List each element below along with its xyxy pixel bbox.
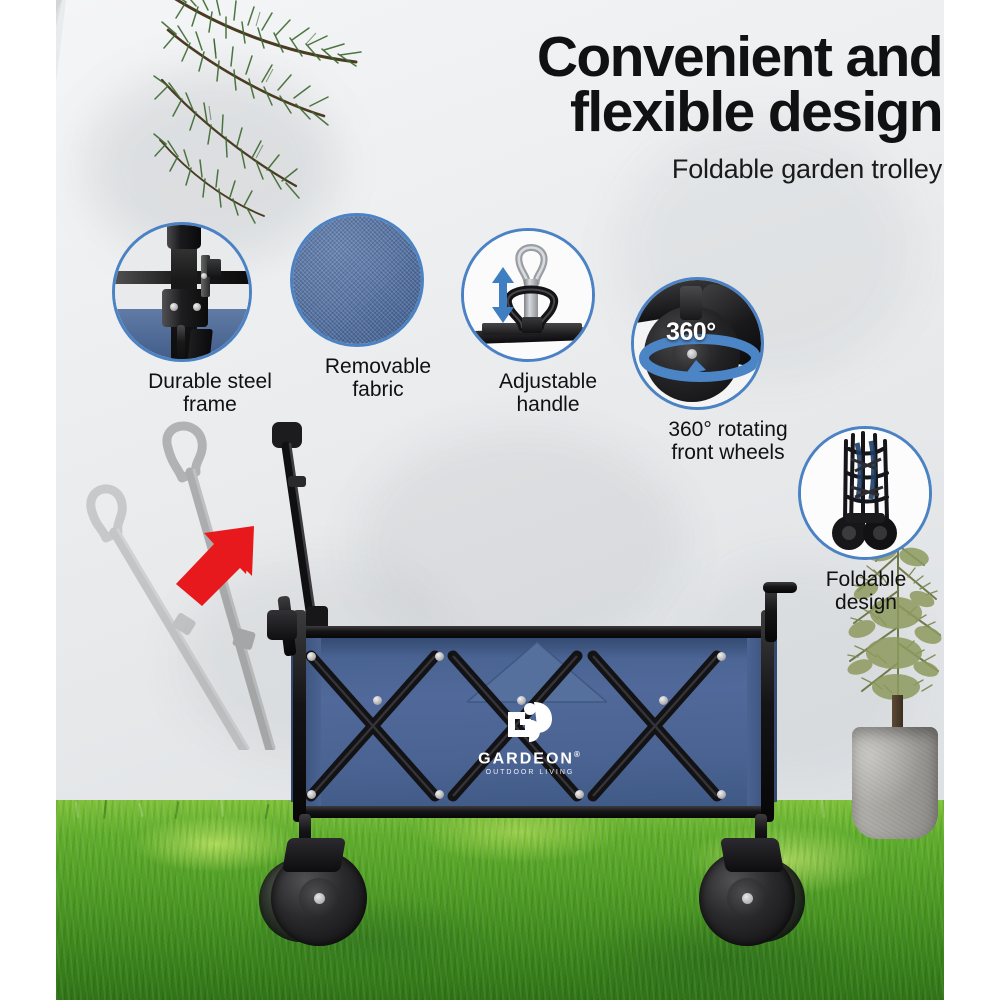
motion-arrow-icon bbox=[176, 526, 254, 606]
foldable-design-label: Foldable design bbox=[786, 569, 946, 614]
headline-subtitle: Foldable garden trolley bbox=[537, 154, 942, 185]
adjustable-handle-icon bbox=[461, 228, 595, 362]
plant-pot bbox=[852, 727, 938, 839]
feature-durable-steel-frame: Durable steel frame bbox=[110, 222, 310, 416]
right-margin bbox=[944, 0, 1000, 1000]
foldable-design-icon bbox=[798, 426, 932, 560]
removable-fabric-icon bbox=[290, 213, 424, 347]
headline-line-2: flexible design bbox=[537, 85, 942, 140]
left-margin bbox=[0, 0, 56, 1000]
removable-fabric-label: Removable fabric bbox=[283, 356, 473, 401]
product-marketing-image: Convenient and flexible design Foldable … bbox=[0, 0, 1000, 1000]
brand-tagline: OUTDOOR LIVING bbox=[465, 769, 595, 776]
headline-block: Convenient and flexible design Foldable … bbox=[537, 30, 942, 185]
gardeon-leaf-mark bbox=[504, 700, 556, 746]
garden-trolley-product: GARDEON® OUTDOOR LIVING bbox=[255, 600, 845, 960]
brand-logo: GARDEON® OUTDOOR LIVING bbox=[465, 700, 595, 776]
headline-line-1: Convenient and bbox=[537, 30, 942, 85]
swivel-wheel-icon: 360° bbox=[631, 277, 764, 410]
feature-foldable-design: Foldable design bbox=[786, 426, 946, 614]
feature-removable-fabric: Removable fabric bbox=[283, 213, 473, 401]
360-degree-badge: 360° bbox=[666, 318, 716, 347]
brand-name: GARDEON® bbox=[465, 750, 595, 768]
durable-steel-frame-label: Durable steel frame bbox=[110, 371, 310, 416]
durable-steel-frame-icon bbox=[112, 222, 252, 362]
feature-adjustable-handle: Adjustable handle bbox=[458, 228, 638, 416]
adjustable-handle-label: Adjustable handle bbox=[458, 371, 638, 416]
up-down-arrow-icon bbox=[488, 265, 518, 325]
handle-ghost-position-1 bbox=[91, 489, 248, 750]
